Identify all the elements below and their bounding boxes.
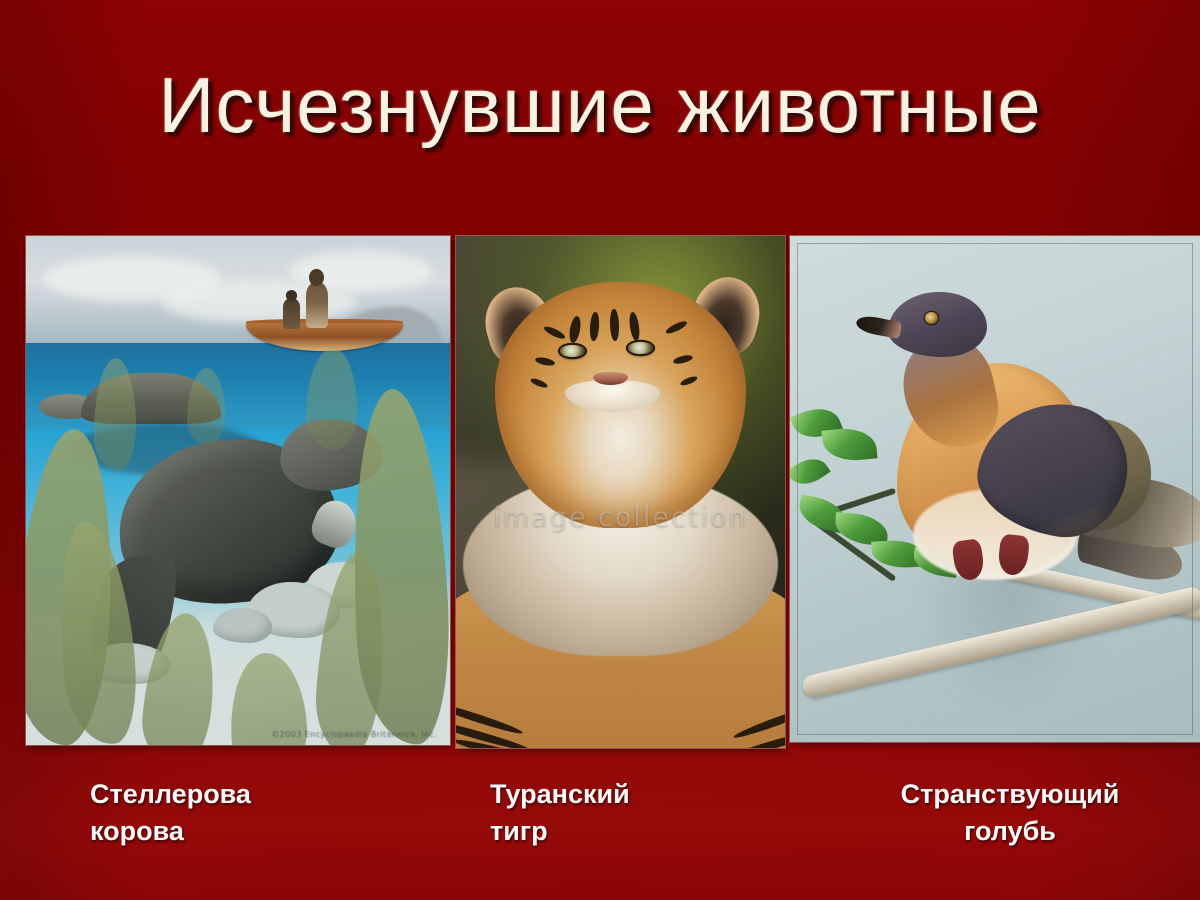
tiger-eye-left [560,345,585,357]
caption-passenger-pigeon: Странствующий голубь [850,776,1170,851]
steller-sea-cow-illustration: ©2003 Encyclopaedia Britannica, Inc. [26,236,450,745]
caption-caspian-tiger: Туранский тигр [490,776,770,851]
hunter-standing [306,282,328,328]
stripe [665,319,688,335]
image-credit: ©2003 Encyclopaedia Britannica, Inc. [271,730,437,739]
image-gallery-row: ©2003 Encyclopaedia Britannica, Inc. [0,236,1200,756]
stripe [732,704,785,742]
rock [213,608,272,644]
passenger-pigeon-photo [790,236,1200,742]
stripe [589,311,600,341]
image-panel-steller-sea-cow[interactable]: ©2003 Encyclopaedia Britannica, Inc. [26,236,450,745]
tiger-head [495,282,745,528]
presentation-slide: Исчезнувшие животные [0,0,1200,900]
page-title: Исчезнувшие животные [0,66,1200,144]
caption-steller-sea-cow: Стеллерова корова [90,776,430,851]
stripe [530,377,549,389]
tiger-muzzle [565,380,660,412]
stripe [628,311,641,341]
stripe [535,356,556,367]
stripe [610,309,620,341]
tiger-eye-right [628,342,653,354]
stripe [542,324,565,340]
pigeon-head [888,292,986,358]
hunter-seated [283,298,301,329]
caspian-tiger-photo: image collection [456,236,785,748]
stripe [672,353,693,365]
image-panel-passenger-pigeon[interactable] [790,236,1200,742]
stripe [680,375,699,387]
caption-row: Стеллерова корова Туранский тигр Странст… [0,776,1200,886]
stripe [568,316,583,344]
image-panel-caspian-tiger[interactable]: image collection [456,236,785,748]
